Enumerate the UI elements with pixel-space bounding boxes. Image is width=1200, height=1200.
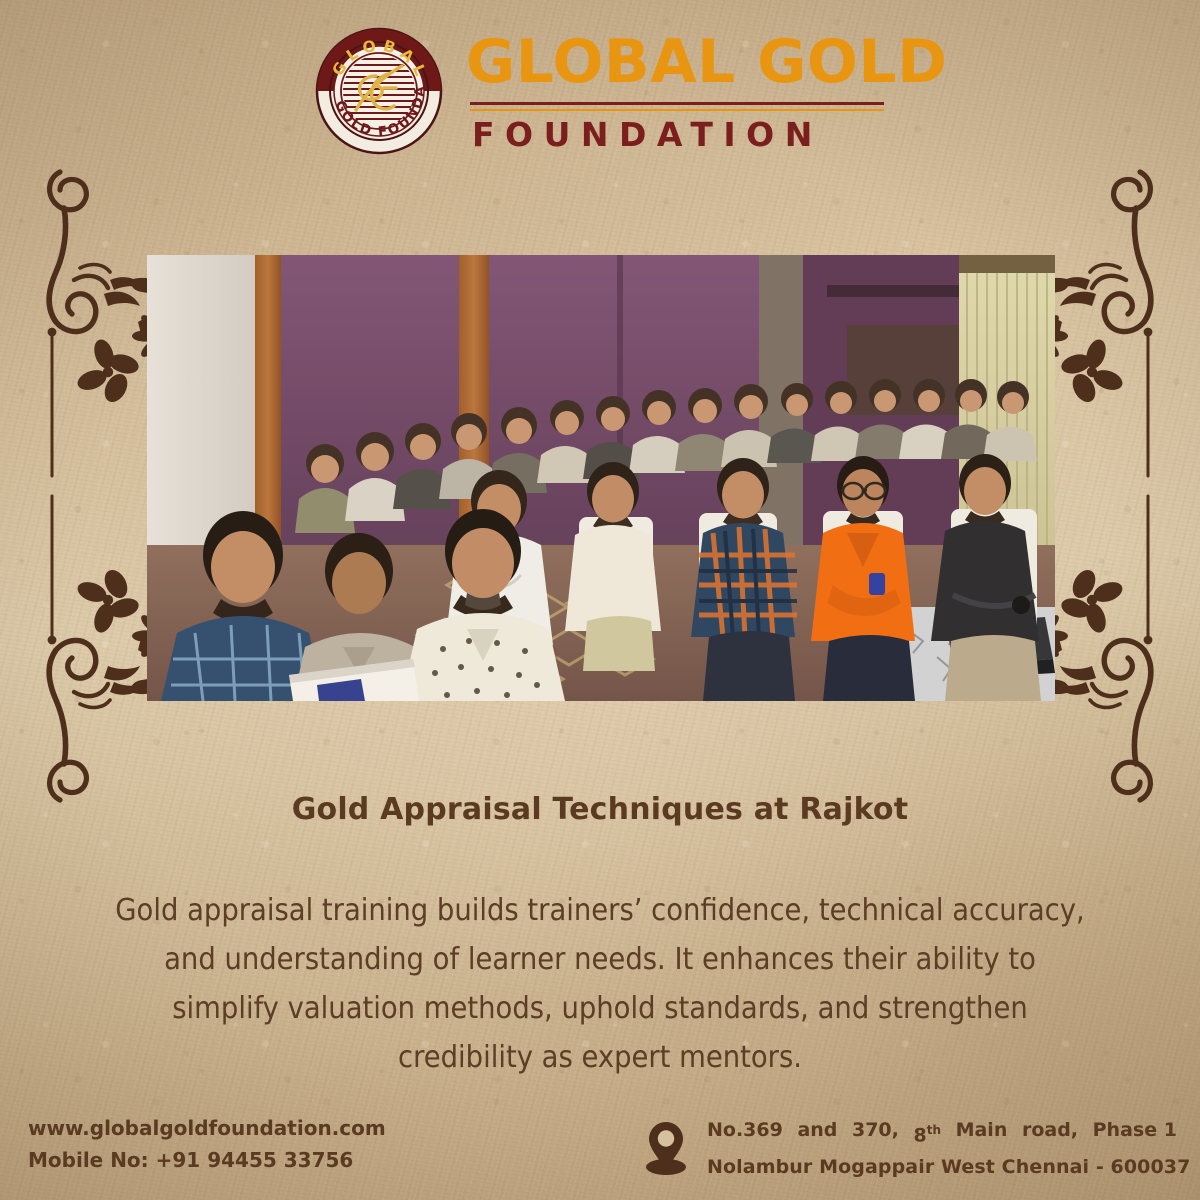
wordmark-line1: GLOBAL GOLD [466,32,886,92]
global-gold-foundation-seal-icon: GLOBAL GOLD FOUNDATION [314,26,444,156]
address-370: 370, [852,1114,899,1151]
website-link[interactable]: www.globalgoldfoundation.com [28,1112,386,1144]
mobile-number[interactable]: Mobile No: +91 94455 33756 [28,1144,386,1176]
footer-address-block: No.369 and 370, 8th Main road, Phase 1 N… [707,1114,1177,1183]
footer: www.globalgoldfoundation.com Mobile No: … [0,1108,1200,1194]
body-line-4: credibility as expert mentors. [100,1033,1100,1082]
address-and: and [797,1114,837,1151]
address-road: road, [1022,1114,1078,1151]
map-pin-icon [645,1120,687,1176]
brand-wordmark: GLOBAL GOLD FOUNDATION [466,26,886,156]
brand-header: GLOBAL GOLD FOUNDATION GLOBAL GOLD FOUND… [0,16,1200,166]
wordmark-rule-gold [470,109,884,111]
wordmark-rule-maroon [470,102,884,105]
body-line-3: simplify valuation methods, uphold stand… [100,984,1100,1033]
address-main: Main [956,1114,1008,1151]
address-th: th [927,1123,941,1137]
page-title: Gold Appraisal Techniques at Rajkot [0,792,1200,827]
address-8: 8 [913,1124,926,1146]
address-no: No.369 [707,1114,783,1151]
address-ordinal: 8th [913,1114,941,1151]
address-phase: Phase 1 [1093,1114,1177,1151]
wordmark-line2: FOUNDATION [472,118,892,151]
address-line-2: Nolambur Mogappair West Chennai - 600037 [707,1151,1177,1183]
body-paragraph: Gold appraisal training builds trainers’… [100,886,1100,1082]
address-line-1: No.369 and 370, 8th Main road, Phase 1 [707,1114,1177,1151]
footer-contact-block: www.globalgoldfoundation.com Mobile No: … [28,1112,386,1176]
poster-canvas: GLOBAL GOLD FOUNDATION GLOBAL GOLD FOUND… [0,0,1200,1200]
body-line-2: and understanding of learner needs. It e… [100,935,1100,984]
training-audience-photograph [147,255,1055,701]
body-line-1: Gold appraisal training builds trainers’… [100,886,1100,935]
